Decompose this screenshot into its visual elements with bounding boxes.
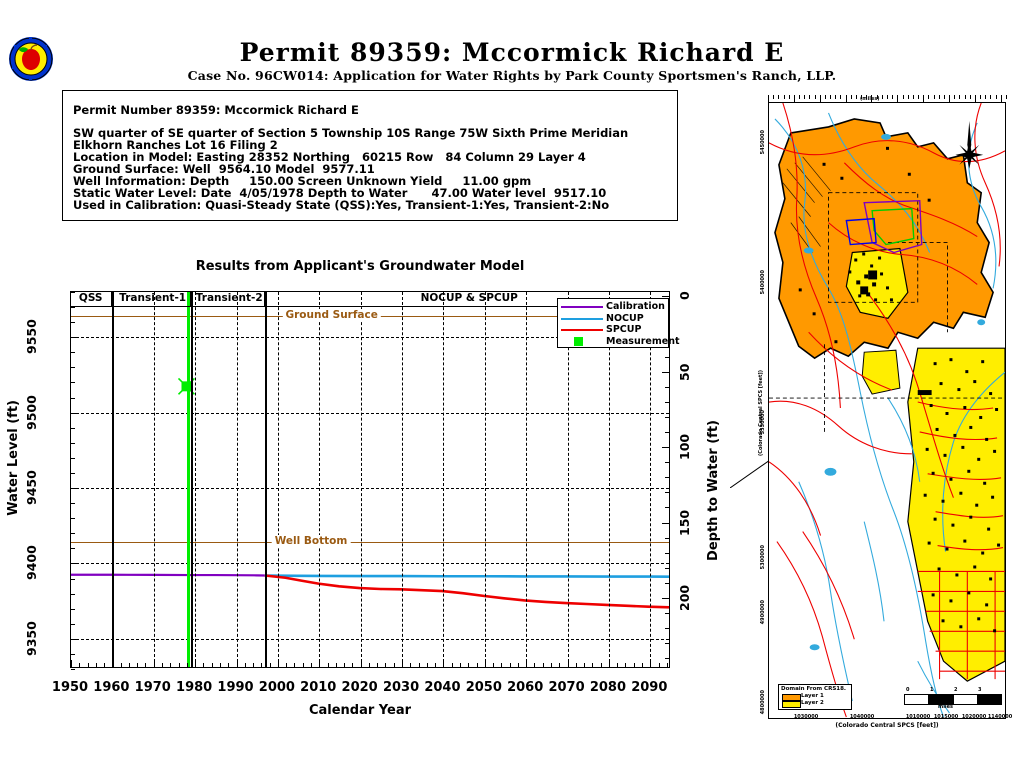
chart-xtick-minor — [427, 663, 428, 667]
chart-xtick — [154, 660, 155, 667]
chart-xtick-minor — [477, 663, 478, 667]
chart-ytick-right-minor — [665, 538, 669, 539]
map-scale-unit: miles — [938, 704, 953, 710]
map-top-tick — [990, 95, 991, 99]
map-top-tick — [840, 95, 841, 99]
map-top-tick — [778, 95, 779, 99]
map-y-axis-label: (Colorado Central SPCS [feet]) — [758, 370, 764, 456]
chart-xtick-label: 2090 — [631, 680, 667, 695]
map-top-tick — [820, 95, 821, 102]
chart-xtick — [526, 660, 527, 667]
map-leader-line — [730, 460, 770, 488]
chart-xtick-minor — [659, 663, 660, 667]
map-top-tick — [928, 95, 929, 99]
chart-xtick-minor — [634, 663, 635, 667]
map-x-tick-label: 1020000 — [962, 714, 986, 720]
chart-xtick-minor — [294, 663, 295, 667]
chart-gridline-h — [71, 563, 669, 564]
chart-ytick — [71, 563, 78, 564]
chart-xtick-minor — [88, 663, 89, 667]
map-top-tick — [789, 95, 790, 99]
chart-xtick-minor — [203, 663, 204, 667]
chart-ytick-right — [662, 372, 669, 373]
chart-ytick-right-minor — [665, 402, 669, 403]
chart-xtick-minor — [452, 663, 453, 667]
chart-xtick-label: 2070 — [548, 680, 584, 695]
legend-label: Calibration — [606, 301, 665, 312]
chart-xtick-minor — [328, 663, 329, 667]
chart-xtick-minor — [311, 663, 312, 667]
chart-ytick-minor — [71, 473, 75, 474]
map-top-tick — [949, 95, 950, 102]
chart-gridline-v — [154, 292, 155, 667]
map-top-tick — [965, 95, 966, 99]
chart-xtick-minor — [286, 663, 287, 667]
map-y-tick-label: 4900000 — [760, 600, 766, 624]
map-top-tick — [897, 95, 898, 102]
map-scale-number: 3 — [978, 687, 981, 693]
chart-xtick-label: 1980 — [176, 680, 212, 695]
map-top-tick — [851, 95, 852, 99]
chart-ytick-right — [662, 523, 669, 524]
chart-xtick-minor — [493, 663, 494, 667]
chart-ytick-right — [662, 598, 669, 599]
chart-xtick-minor — [170, 663, 171, 667]
map-top-tick — [768, 95, 769, 102]
chart-gridline-v — [568, 292, 569, 667]
chart-xtick — [609, 660, 610, 667]
chart-xtick-minor — [253, 663, 254, 667]
map-top-tick — [892, 95, 893, 99]
chart-ytick-right-minor — [665, 553, 669, 554]
chart-xtick-label: 2040 — [424, 680, 460, 695]
chart-ytick-minor — [71, 533, 75, 534]
chart-xtick-minor — [179, 663, 180, 667]
chart-ytick-label: 9500 — [24, 385, 64, 441]
chart-ytick — [71, 639, 78, 640]
chart-xtick-minor — [460, 663, 461, 667]
legend-item-spcup: SPCUP — [560, 324, 668, 336]
map-top-tick — [794, 95, 795, 102]
map-top-tick — [1006, 95, 1007, 99]
map-top-tick — [903, 95, 904, 99]
chart-xtick-label: 1990 — [217, 680, 253, 695]
map-scale-number: 0 — [906, 687, 909, 693]
chart-xtick — [361, 660, 362, 667]
map-x-tick-label: 1030000 — [794, 714, 818, 720]
chart-ytick-minor — [71, 503, 75, 504]
chart-ytick-right-minor — [665, 432, 669, 433]
map-top-tick — [985, 95, 986, 99]
map-x-tick-label: 1140000 — [988, 714, 1012, 720]
chart-ytick-minor — [71, 322, 75, 323]
legend-swatch-marker — [574, 337, 583, 346]
map-top-tick — [882, 95, 883, 99]
legend-label: Measurement — [606, 336, 680, 347]
legend-swatch-line — [561, 329, 603, 331]
chart-ytick-right-label: 100 — [677, 427, 692, 467]
chart-gridline-h — [71, 488, 669, 489]
chart-xtick-minor — [352, 663, 353, 667]
chart-xtick-minor — [510, 663, 511, 667]
chart-ytick-minor — [71, 382, 75, 383]
chart-ytick-minor — [71, 458, 75, 459]
chart-ytick-minor — [71, 579, 75, 580]
info-line-8: Used in Calibration: Quasi-Steady State … — [73, 198, 609, 212]
chart-ytick-minor — [71, 367, 75, 368]
chart-ytick-right-minor — [665, 417, 669, 418]
map-legend-label: Layer 2 — [801, 700, 824, 706]
chart-ytick-minor — [71, 669, 75, 670]
chart-ytick-label: 9550 — [24, 309, 64, 365]
chart-ytick-minor — [71, 352, 75, 353]
chart-ytick-right-minor — [665, 583, 669, 584]
chart-ytick-right-label: 200 — [677, 578, 692, 618]
chart-xtick-minor — [468, 663, 469, 667]
map-legend-item: Layer 1 — [781, 693, 851, 700]
map-top-tick — [934, 95, 935, 99]
map-legend: Domain From CRS18.Layer 1Layer 2 — [778, 684, 852, 710]
chart-ytick-minor — [71, 443, 75, 444]
map-y-tick-label: 5300000 — [760, 545, 766, 569]
legend-swatch-line — [561, 318, 603, 320]
chart-xtick-minor — [245, 663, 246, 667]
chart-xtick-minor — [145, 663, 146, 667]
chart-ytick-right-minor — [665, 492, 669, 493]
chart-period-divider — [112, 292, 114, 667]
chart-gridline-h — [71, 639, 669, 640]
legend-item-measurement: Measurement — [560, 336, 668, 348]
chart-ytick-minor — [71, 398, 75, 399]
map-scale-number: 1 — [930, 687, 933, 693]
chart-xtick — [278, 660, 279, 667]
map-top-tick — [939, 95, 940, 99]
chart-ytick-minor — [71, 548, 75, 549]
chart-ytick-right-label: 150 — [677, 503, 692, 543]
chart-ytick-right-minor — [665, 507, 669, 508]
chart-xtick-minor — [518, 663, 519, 667]
map-x-tick-label: 1040000 — [850, 714, 874, 720]
map-top-tick — [996, 95, 997, 99]
map-legend-label: Layer 1 — [801, 693, 824, 699]
chart-ytick-minor — [71, 594, 75, 595]
chart-legend: CalibrationNOCUPSPCUPMeasurement — [557, 298, 669, 348]
chart-xtick-label: 2000 — [259, 680, 295, 695]
chart-xtick-minor — [261, 663, 262, 667]
chart-ytick — [71, 488, 78, 489]
chart-ytick-right-label: 0 — [677, 276, 692, 316]
chart-xtick-minor — [104, 663, 105, 667]
map-top-tick — [887, 95, 888, 99]
map-top-tick — [1001, 95, 1002, 102]
chart-gridline-v — [443, 292, 444, 667]
chart-xtick-minor — [551, 663, 552, 667]
chart-xtick-label: 2030 — [383, 680, 419, 695]
chart-x-axis-label: Calendar Year — [0, 703, 720, 718]
chart-xtick-minor — [625, 663, 626, 667]
map-x-tick-label: 1015000 — [934, 714, 958, 720]
chart-xtick-minor — [592, 663, 593, 667]
permit-info-box: Permit Number 89359: Mccormick Richard E… — [62, 90, 678, 221]
chart-xtick — [485, 660, 486, 667]
map-top-tick — [799, 95, 800, 99]
chart-xtick — [568, 660, 569, 667]
chart-xtick-minor — [559, 663, 560, 667]
chart-xtick-minor — [303, 663, 304, 667]
chart-gridline-h — [71, 413, 669, 414]
chart-ytick-label: 9400 — [24, 535, 64, 591]
chart-ytick-right-minor — [665, 658, 669, 659]
chart-xtick-minor — [228, 663, 229, 667]
chart-ytick-minor — [71, 428, 75, 429]
chart-gridline-v — [609, 292, 610, 667]
map-top-tick — [975, 95, 976, 102]
chart-gridline-v — [361, 292, 362, 667]
chart-xtick-minor — [270, 663, 271, 667]
chart-gridline-v — [278, 292, 279, 667]
chart-gridline-v — [319, 292, 320, 667]
chart-xtick-minor — [385, 663, 386, 667]
chart-xtick-minor — [601, 663, 602, 667]
map-legend-title: Domain From CRS18. — [781, 686, 851, 692]
chart-xtick-minor — [129, 663, 130, 667]
chart-ytick-minor — [71, 609, 75, 610]
chart-ytick-right — [662, 447, 669, 448]
map-scale-number: 2 — [954, 687, 957, 693]
chart-xtick-minor — [501, 663, 502, 667]
chart-y-axis-right-label: Depth to Water (ft) — [706, 420, 721, 561]
chart-series-layer — [71, 292, 669, 667]
chart-xtick-label: 2010 — [300, 680, 336, 695]
chart-xtick-minor — [336, 663, 337, 667]
map-top-tick — [980, 95, 981, 99]
map-y-tick-label: 4800000 — [760, 690, 766, 714]
chart-ytick-right-minor — [665, 387, 669, 388]
map-top-tick — [856, 95, 857, 99]
map-top-tick — [970, 95, 971, 99]
chart-xtick-label: 1970 — [135, 680, 171, 695]
map-top-tick — [954, 95, 955, 99]
map-legend-swatch — [782, 701, 801, 708]
map-legend-item: Layer 2 — [781, 700, 851, 707]
chart-band-transient-1: Transient-1 — [111, 291, 192, 307]
chart-xtick-minor — [96, 663, 97, 667]
chart-xtick — [71, 660, 72, 667]
chart-xtick-minor — [410, 663, 411, 667]
map-top-tick — [773, 95, 774, 99]
chart-period-divider — [191, 292, 193, 667]
chart-ytick-right-minor — [665, 357, 669, 358]
map-top-tick — [923, 95, 924, 102]
legend-item-nocup: NOCUP — [560, 313, 668, 325]
chart-ytick-minor — [71, 654, 75, 655]
chart-xtick-minor — [377, 663, 378, 667]
chart-ytick-label: 9450 — [24, 460, 64, 516]
map-top-tick — [835, 95, 836, 99]
chart-xtick — [195, 660, 196, 667]
chart-reference-line — [71, 542, 669, 543]
chart-xtick-minor — [79, 663, 80, 667]
chart-ytick-right-minor — [665, 477, 669, 478]
map-top-tick — [913, 95, 914, 99]
chart-xtick-minor — [394, 663, 395, 667]
map-top-tick — [830, 95, 831, 99]
chart-xtick-minor — [435, 663, 436, 667]
chart-xtick-minor — [220, 663, 221, 667]
map-top-tick — [944, 95, 945, 99]
map-top-tick — [846, 95, 847, 102]
map-top-tick — [809, 95, 810, 99]
chart-xtick-label: 2050 — [466, 680, 502, 695]
chart-ytick — [71, 337, 78, 338]
chart-xtick-label: 1960 — [93, 680, 129, 695]
chart-ytick — [71, 413, 78, 414]
info-line-0: Permit Number 89359: Mccormick Richard E — [73, 103, 359, 117]
chart-ytick-right-minor — [665, 568, 669, 569]
chart-xtick-minor — [667, 663, 668, 667]
page-subtitle: Case No. 96CW014: Application for Water … — [0, 68, 1024, 83]
chart-xtick — [402, 660, 403, 667]
chart-ytick-right-label: 50 — [677, 352, 692, 392]
map-x-axis-label: (Colorado Central SPCS [feet]) — [768, 722, 1006, 729]
map-top-tick — [815, 95, 816, 99]
chart-period-divider — [265, 292, 267, 667]
map-y-tick-label: 5450000 — [760, 130, 766, 154]
chart-ytick-right-minor — [665, 643, 669, 644]
chart-xtick-minor — [642, 663, 643, 667]
chart-gridline-v — [237, 292, 238, 667]
map-top-tick — [825, 95, 826, 99]
chart-xtick-minor — [344, 663, 345, 667]
chart-gridline-v — [402, 292, 403, 667]
chart-xtick — [650, 660, 651, 667]
chart-xtick-minor — [121, 663, 122, 667]
chart-xtick-minor — [212, 663, 213, 667]
chart-xtick-minor — [187, 663, 188, 667]
chart-ytick-right-minor — [665, 613, 669, 614]
chart-gridline-v — [195, 292, 196, 667]
chart-title: Results from Applicant's Groundwater Mod… — [0, 259, 720, 274]
chart-xtick-label: 1950 — [52, 680, 88, 695]
chart-ytick-minor — [71, 307, 75, 308]
chart-xtick-minor — [534, 663, 535, 667]
chart-reference-label: Ground Surface — [283, 309, 381, 321]
chart-ytick-minor — [71, 624, 75, 625]
chart-ytick-right-minor — [665, 462, 669, 463]
legend-label: NOCUP — [606, 313, 644, 324]
chart-ytick-label: 9350 — [24, 611, 64, 667]
chart-xtick-minor — [369, 663, 370, 667]
chart-xtick — [112, 660, 113, 667]
chart-xtick-minor — [137, 663, 138, 667]
map-top-tick — [959, 95, 960, 99]
legend-item-calibration: Calibration — [560, 301, 668, 313]
chart-gridline-v — [485, 292, 486, 667]
site-location-map[interactable] — [768, 102, 1006, 719]
chart-gridline-v — [650, 292, 651, 667]
chart-ytick-right-minor — [665, 628, 669, 629]
chart-xtick-minor — [617, 663, 618, 667]
chart-xtick-label: 2060 — [507, 680, 543, 695]
page-title: Permit 89359: Mccormick Richard E — [0, 38, 1024, 67]
chart-xtick-label: 2080 — [590, 680, 626, 695]
chart-xtick-minor — [419, 663, 420, 667]
map-top-tick — [918, 95, 919, 99]
legend-label: SPCUP — [606, 324, 641, 335]
chart-ytick-minor — [71, 518, 75, 519]
map-top-tick — [908, 95, 909, 99]
map-top-tick — [784, 95, 785, 99]
chart-reference-label: Well Bottom — [272, 535, 351, 547]
map-y-tick-label: 5400000 — [760, 270, 766, 294]
map-x-tick-label: 1010000 — [906, 714, 930, 720]
chart-xtick-minor — [543, 663, 544, 667]
chart-gridline-v — [526, 292, 527, 667]
chart-xtick — [237, 660, 238, 667]
chart-xtick-minor — [576, 663, 577, 667]
chart-xtick-label: 2020 — [342, 680, 378, 695]
chart-band-transient-2: Transient-2 — [190, 291, 266, 307]
legend-swatch-line — [561, 306, 603, 308]
chart-xtick-minor — [584, 663, 585, 667]
map-top-tick — [804, 95, 805, 99]
chart-measurement-date-line — [187, 292, 190, 667]
chart-xtick — [319, 660, 320, 667]
chart-y-axis-label: Water Level (ft) — [6, 400, 21, 516]
chart-band-qss: QSS — [70, 291, 111, 307]
chart-xtick — [443, 660, 444, 667]
chart-xtick-minor — [162, 663, 163, 667]
